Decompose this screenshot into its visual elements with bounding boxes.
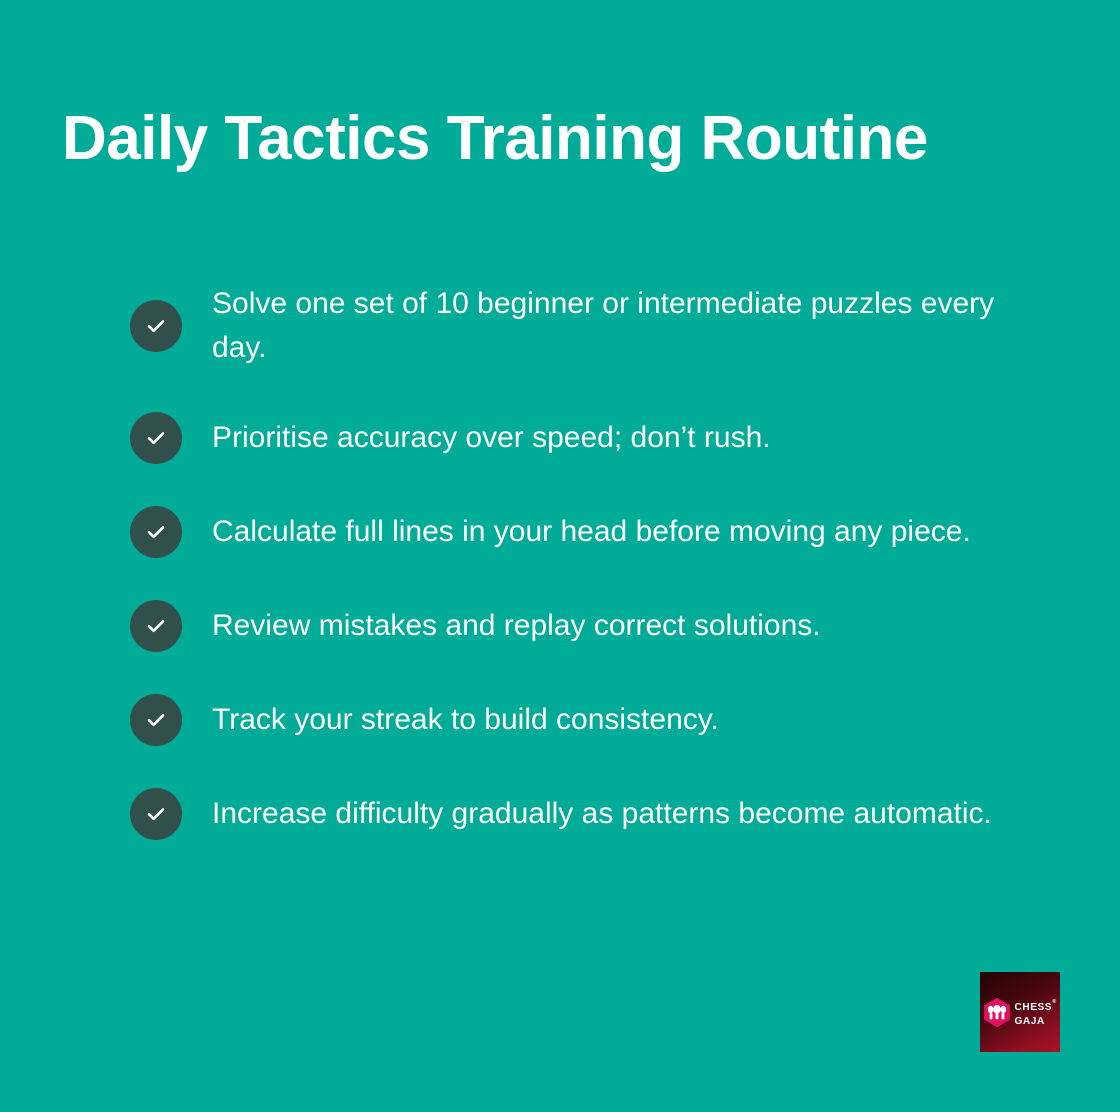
- elephant-hexagon-icon: [983, 997, 1011, 1027]
- brand-name-line1: CHESS: [1015, 1001, 1053, 1012]
- check-icon: [130, 694, 182, 746]
- list-item-label: Calculate full lines in your head before…: [212, 510, 1002, 554]
- check-icon: [130, 788, 182, 840]
- check-icon: [130, 506, 182, 558]
- list-item-label: Prioritise accuracy over speed; don’t ru…: [212, 416, 1002, 460]
- page-title: Daily Tactics Training Routine: [62, 104, 1062, 173]
- brand-name-line2: GAJA: [1015, 1016, 1057, 1026]
- list-item-label: Solve one set of 10 beginner or intermed…: [212, 282, 1002, 370]
- poster-canvas: Daily Tactics Training Routine Solve one…: [0, 0, 1120, 1112]
- list-item: Review mistakes and replay correct solut…: [130, 600, 1030, 652]
- check-icon: [130, 300, 182, 352]
- check-icon: [130, 412, 182, 464]
- list-item: Prioritise accuracy over speed; don’t ru…: [130, 412, 1030, 464]
- list-item: Track your streak to build consistency.: [130, 694, 1030, 746]
- list-item: Solve one set of 10 beginner or intermed…: [130, 282, 1030, 370]
- list-item-label: Increase difficulty gradually as pattern…: [212, 792, 1002, 836]
- checklist: Solve one set of 10 beginner or intermed…: [130, 282, 1030, 840]
- check-icon: [130, 600, 182, 652]
- list-item: Increase difficulty gradually as pattern…: [130, 788, 1030, 840]
- brand-logo: CHESS® GAJA: [980, 972, 1060, 1052]
- registered-trademark-icon: ®: [1052, 999, 1057, 1005]
- list-item: Calculate full lines in your head before…: [130, 506, 1030, 558]
- list-item-label: Review mistakes and replay correct solut…: [212, 604, 1002, 648]
- list-item-label: Track your streak to build consistency.: [212, 698, 1002, 742]
